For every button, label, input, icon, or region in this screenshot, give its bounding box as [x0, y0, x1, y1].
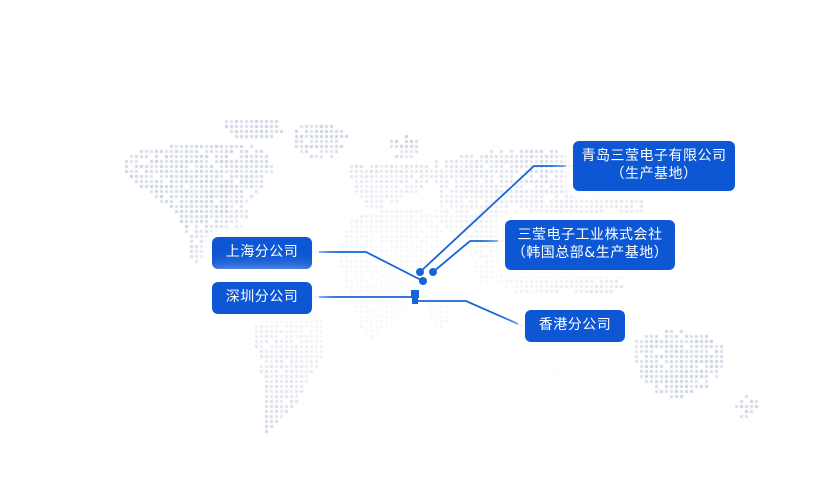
label-hongkong-line1: 香港分公司 — [539, 317, 612, 335]
link-shanghai — [312, 252, 423, 281]
label-qingdao-line2: （生产基地） — [611, 166, 698, 184]
node-korea[interactable] — [429, 268, 437, 276]
node-qingdao[interactable] — [416, 268, 424, 276]
label-korea-line1: 三莹电子工业株式会社 — [518, 227, 663, 245]
node-hongkong[interactable] — [412, 298, 418, 304]
label-shanghai[interactable]: 上海分公司 — [212, 237, 312, 269]
world-map-infographic: 青岛三莹电子有限公司 （生产基地） 三莹电子工业株式会社 （韩国总部&生产基地）… — [0, 0, 824, 480]
label-qingdao-line1: 青岛三莹电子有限公司 — [582, 148, 727, 166]
link-korea — [433, 241, 505, 272]
label-hongkong[interactable]: 香港分公司 — [525, 310, 625, 342]
label-shenzhen-line1: 深圳分公司 — [226, 289, 299, 307]
connector-lines — [0, 0, 824, 480]
label-korea-line2: （韩国总部&生产基地） — [512, 245, 668, 263]
label-qingdao[interactable]: 青岛三莹电子有限公司 （生产基地） — [573, 141, 735, 191]
label-shanghai-line1: 上海分公司 — [226, 244, 299, 262]
node-shenzhen[interactable] — [411, 290, 419, 298]
map-nodes — [411, 268, 437, 304]
label-shenzhen[interactable]: 深圳分公司 — [212, 282, 312, 314]
node-shanghai[interactable] — [419, 277, 427, 285]
link-hongkong — [415, 301, 525, 327]
label-korea[interactable]: 三莹电子工业株式会社 （韩国总部&生产基地） — [505, 220, 675, 270]
